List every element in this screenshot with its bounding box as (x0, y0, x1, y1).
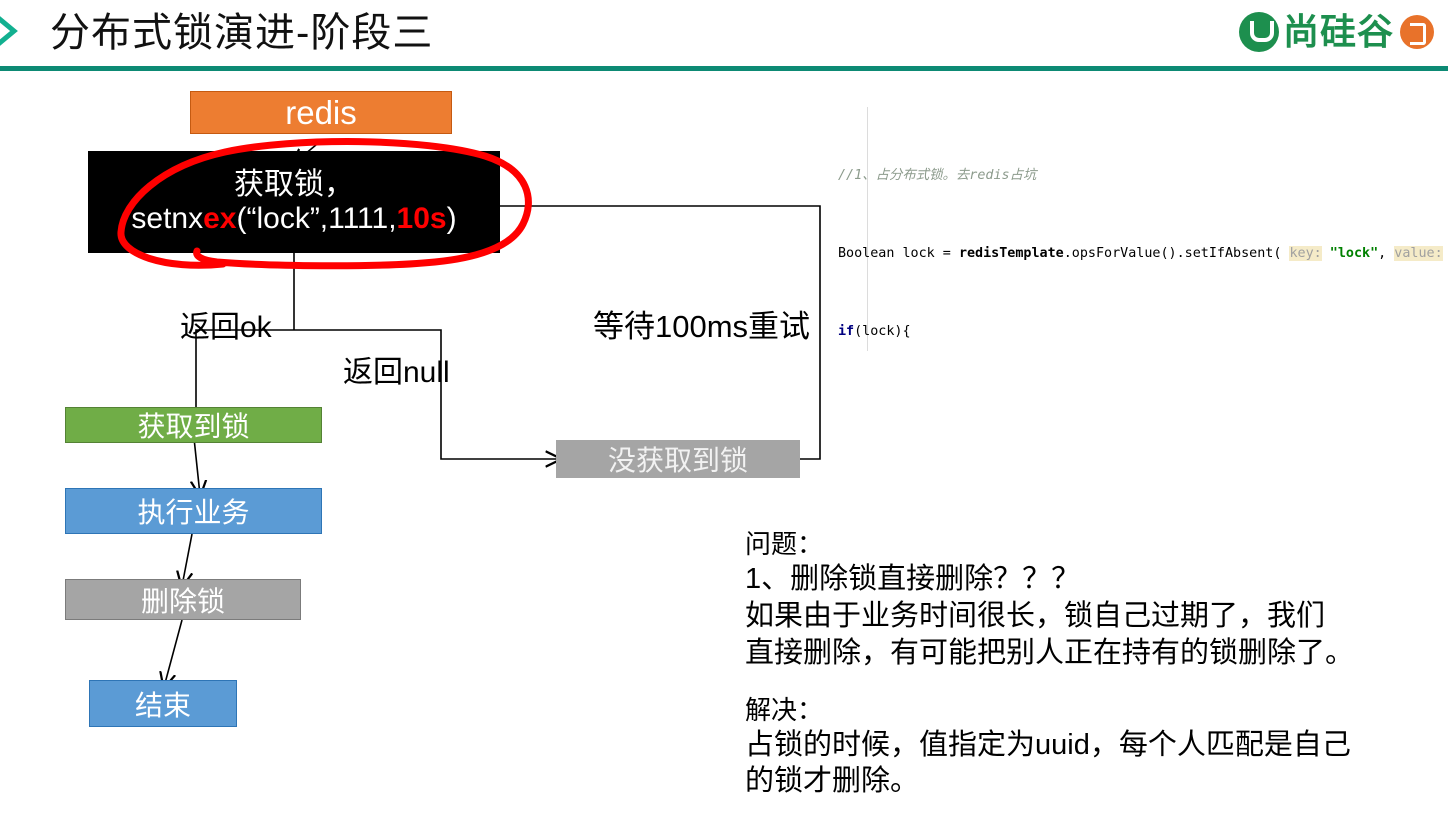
flow-box-end: 结束 (89, 680, 237, 727)
circle-u-icon (1239, 12, 1279, 52)
red-circle-annotation (105, 136, 535, 271)
flow-box-execute-business: 执行业务 (65, 488, 322, 534)
indent-guide-line (867, 107, 868, 351)
note-solution-2: 的锁才删除。 (745, 763, 1405, 800)
note-question-1: 1、删除锁直接删除？？？ (745, 561, 1405, 598)
brand-logo: 尚硅谷 (1239, 8, 1434, 56)
page-title: 分布式锁演进-阶段三 (50, 2, 433, 64)
header-divider (0, 66, 1448, 71)
brand-text: 尚硅谷 (1283, 12, 1394, 52)
chevron-right-icon (0, 12, 28, 50)
note-question-3: 直接删除，有可能把别人正在持有的锁删除了。 (745, 635, 1405, 672)
label-wait-retry: 等待100ms重试 (593, 301, 810, 346)
flow-box-lock-failed: 没获取到锁 (556, 440, 800, 478)
flow-box-got-lock: 获取到锁 (65, 407, 322, 443)
note-solution-1: 占锁的时候，值指定为uuid，每个人匹配是自己 (745, 727, 1405, 764)
code-line-1: //1、占分布式锁。去redis占坑 (838, 166, 1448, 186)
label-return-null: 返回null (343, 347, 450, 391)
code-snippet-panel: //1、占分布式锁。去redis占坑 Boolean lock = redisT… (838, 88, 1448, 353)
flow-box-delete-lock: 删除锁 (65, 579, 301, 620)
label-return-ok: 返回ok (180, 302, 272, 346)
note-spacer (745, 672, 1405, 694)
note-question-title: 问题： (745, 528, 1405, 561)
code-line-2: Boolean lock = redisTemplate.opsForValue… (838, 244, 1448, 264)
orange-square-icon (1400, 15, 1434, 49)
code-line-3: if(lock){ (838, 322, 1448, 342)
note-question-2: 如果由于业务时间很长，锁自己过期了，我们 (745, 598, 1405, 635)
flow-box-redis: redis (190, 91, 452, 134)
slide-header: 分布式锁演进-阶段三 尚硅谷 (0, 0, 1448, 68)
note-solution-title: 解决： (745, 694, 1405, 727)
slide-canvas: 分布式锁演进-阶段三 尚硅谷 redis 获取锁， (0, 0, 1448, 826)
notes-block: 问题： 1、删除锁直接删除？？？ 如果由于业务时间很长，锁自己过期了，我们 直接… (745, 528, 1405, 800)
